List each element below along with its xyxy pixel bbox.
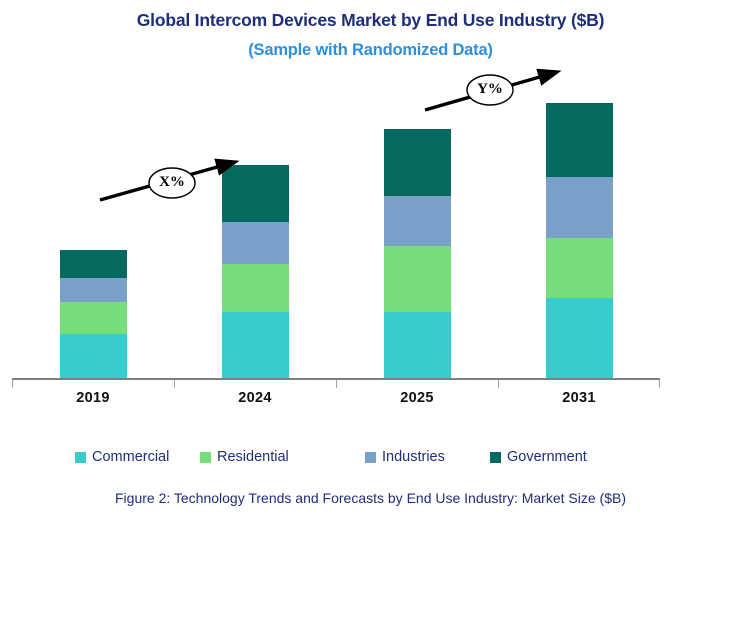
legend-swatch-icon [365,452,376,463]
legend-swatch-icon [75,452,86,463]
bar-segment-2024-industries [222,222,289,264]
x-axis-label-2: 2025 [336,390,498,406]
x-axis-tick [12,380,13,388]
bar-segment-2031-commercial [546,298,613,378]
bar-segment-2025-government [384,129,451,196]
x-axis-label-0: 2019 [12,390,174,406]
figure-caption: Figure 2: Technology Trends and Forecast… [0,490,741,506]
legend-item-industries[interactable]: Industries [365,445,445,469]
legend-label: Commercial [92,448,169,466]
legend-item-government[interactable]: Government [490,445,587,469]
bar-segment-2025-industries [384,196,451,246]
legend-item-commercial[interactable]: Commercial [75,445,169,469]
legend-label: Residential [217,448,289,466]
bar-segment-2024-residential [222,264,289,312]
legend-label: Industries [382,448,445,466]
bar-segment-2024-government [222,165,289,222]
x-axis-tick [659,380,660,388]
bar-segment-2019-industries [60,278,127,302]
plot-area: 2019 2024 2025 2031 X% Y% [0,0,741,420]
x-axis-label-3: 2031 [498,390,660,406]
chart-legend: CommercialResidentialIndustriesGovernmen… [0,445,741,469]
x-axis-tick [174,380,175,388]
x-axis-tick [498,380,499,388]
bar-segment-2025-residential [384,246,451,312]
bar-segment-2024-commercial [222,312,289,378]
legend-swatch-icon [490,452,501,463]
legend-item-residential[interactable]: Residential [200,445,289,469]
bar-segment-2031-government [546,103,613,177]
bar-stack-group [0,0,741,378]
legend-swatch-icon [200,452,211,463]
bar-segment-2019-government [60,250,127,278]
bar-segment-2019-commercial [60,334,127,378]
bar-segment-2025-commercial [384,312,451,378]
x-axis-tick [336,380,337,388]
bar-segment-2031-residential [546,238,613,298]
x-axis-label-1: 2024 [174,390,336,406]
chart-figure: Global Intercom Devices Market by End Us… [0,0,741,621]
bar-segment-2031-industries [546,177,613,238]
legend-label: Government [507,448,587,466]
bar-segment-2019-residential [60,302,127,334]
